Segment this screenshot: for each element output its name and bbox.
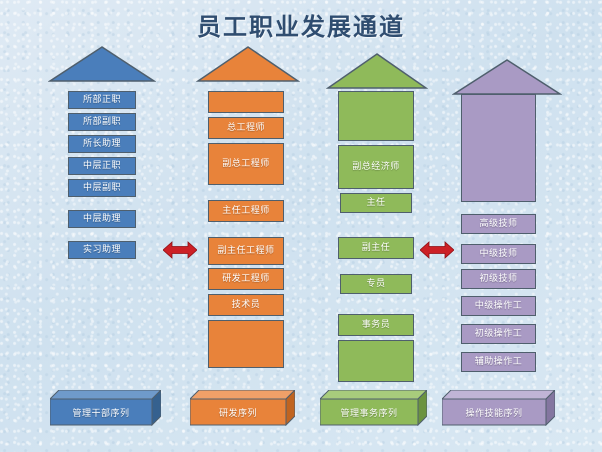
role-box-empty[interactable] [208, 91, 284, 113]
sequence-block-skill[interactable]: 操作技能序列 [442, 390, 546, 426]
role-box[interactable]: 实习助理 [68, 241, 136, 259]
role-box[interactable]: 技术员 [208, 294, 284, 316]
sequence-block-administration[interactable]: 管理事务序列 [320, 390, 418, 426]
role-box[interactable]: 研发工程师 [208, 268, 284, 290]
role-box-empty[interactable] [461, 94, 536, 202]
arrow-head-research [196, 45, 300, 83]
arrow-management-research [163, 240, 197, 260]
role-box[interactable]: 所部正职 [68, 91, 136, 109]
sequence-block-management[interactable]: 管理干部序列 [50, 390, 152, 426]
role-box[interactable]: 中级操作工 [461, 296, 536, 316]
diagram-canvas: 员工职业发展通道 所部正职 所部副职 所长助理 中层正职 中层副职 中层助理 实… [0, 0, 602, 452]
role-box[interactable]: 中层助理 [68, 210, 136, 228]
career-column-management: 所部正职 所部副职 所长助理 中层正职 中层副职 中层助理 实习助理 [48, 45, 156, 295]
role-box[interactable]: 辅助操作工 [461, 352, 536, 372]
arrow-administration-skill [420, 240, 454, 260]
role-box-empty[interactable] [338, 91, 414, 141]
role-box[interactable]: 副主任 [338, 237, 414, 259]
role-box[interactable]: 所长助理 [68, 135, 136, 153]
career-column-research: 总工程师 副总工程师 主任工程师 副主任工程师 研发工程师 技术员 [196, 45, 300, 385]
role-box[interactable]: 初级技师 [461, 269, 536, 289]
sequence-label: 研发序列 [190, 399, 286, 425]
role-box[interactable]: 主任 [340, 193, 412, 213]
page-title: 员工职业发展通道 [0, 7, 602, 42]
arrow-head-administration [326, 52, 428, 90]
arrow-head-management [48, 45, 156, 83]
role-box[interactable]: 副总经济师 [338, 145, 414, 189]
role-box[interactable]: 中层正职 [68, 157, 136, 175]
role-box[interactable]: 中级技师 [461, 244, 536, 264]
arrow-head-skill [452, 58, 562, 96]
sequence-label: 管理干部序列 [50, 399, 152, 425]
role-box[interactable]: 总工程师 [208, 117, 284, 139]
sequence-label: 操作技能序列 [442, 399, 546, 425]
role-box[interactable]: 副总工程师 [208, 143, 284, 185]
role-box[interactable]: 中层副职 [68, 179, 136, 197]
role-box[interactable]: 高级技师 [461, 214, 536, 234]
sequence-block-research[interactable]: 研发序列 [190, 390, 286, 426]
role-box-empty[interactable] [338, 340, 414, 382]
career-column-administration: 副总经济师 主任 副主任 专员 事务员 [326, 52, 428, 382]
role-box-empty[interactable] [208, 320, 284, 368]
role-box[interactable]: 专员 [340, 274, 412, 294]
role-box[interactable]: 所部副职 [68, 113, 136, 131]
role-box[interactable]: 主任工程师 [208, 200, 284, 222]
career-column-skill: 高级技师 中级技师 初级技师 中级操作工 初级操作工 辅助操作工 [452, 58, 562, 388]
role-box[interactable]: 事务员 [338, 314, 414, 336]
role-box[interactable]: 副主任工程师 [208, 237, 284, 265]
role-box[interactable]: 初级操作工 [461, 324, 536, 344]
sequence-label: 管理事务序列 [320, 399, 418, 425]
